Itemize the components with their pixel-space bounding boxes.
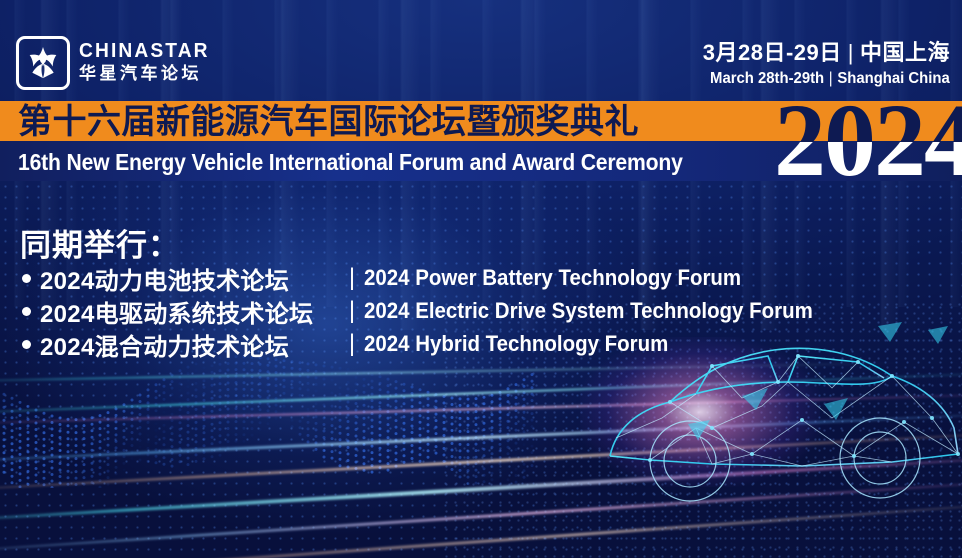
page-title-en: 16th New Energy Vehicle International Fo…	[18, 143, 683, 181]
date-cn-separator: |	[842, 40, 860, 65]
bullet-icon	[22, 307, 31, 316]
date-location-cn: 3月28日-29日|中国上海	[692, 40, 950, 66]
forum-name-en: 2024 Hybrid Technology Forum	[364, 331, 668, 357]
date-cn-text: 3月28日-29日	[703, 40, 842, 65]
date-en-separator: |	[824, 70, 837, 87]
list-item[interactable]: 2024电驱动系统技术论坛 | 2024 Electric Drive Syst…	[22, 296, 847, 326]
star-flower-logo-icon	[16, 36, 70, 90]
event-banner: CHINASTAR 华星汽车论坛 3月28日-29日|中国上海 March 28…	[0, 0, 962, 558]
concurrent-heading: 同期举行：	[20, 220, 180, 265]
list-item[interactable]: 2024混合动力技术论坛 | 2024 Hybrid Technology Fo…	[22, 329, 847, 359]
bullet-icon	[22, 340, 31, 349]
forum-name-cn: 2024电驱动系统技术论坛	[40, 294, 340, 329]
forum-name-en: 2024 Electric Drive System Technology Fo…	[364, 298, 813, 324]
forum-divider: |	[340, 264, 364, 292]
forum-name-en: 2024 Power Battery Technology Forum	[364, 265, 741, 291]
bullet-icon	[22, 274, 31, 283]
logo-name-en: CHINASTAR	[79, 41, 210, 62]
place-cn-text: 中国上海	[860, 40, 950, 65]
forum-divider: |	[340, 330, 364, 358]
page-title-cn: 第十六届新能源汽车国际论坛暨颁奖典礼	[18, 102, 639, 142]
logo[interactable]: CHINASTAR 华星汽车论坛	[16, 36, 215, 90]
place-en-text: Shanghai China	[838, 70, 950, 87]
concurrent-forum-list: 2024动力电池技术论坛 | 2024 Power Battery Techno…	[22, 263, 847, 362]
date-location-en: March 28th-29th|Shanghai China	[710, 69, 950, 89]
forum-name-cn: 2024混合动力技术论坛	[40, 327, 340, 362]
title-band: 2024 2024 第十六届新能源汽车国际论坛暨颁奖典礼 16th New En…	[0, 101, 962, 181]
forum-name-cn: 2024动力电池技术论坛	[40, 261, 340, 296]
list-item[interactable]: 2024动力电池技术论坛 | 2024 Power Battery Techno…	[22, 263, 847, 293]
forum-divider: |	[340, 297, 364, 325]
date-location-block: 3月28日-29日|中国上海 March 28th-29th|Shanghai …	[692, 40, 950, 89]
logo-name-cn: 华星汽车论坛	[79, 63, 215, 84]
date-en-text: March 28th-29th	[710, 70, 824, 87]
